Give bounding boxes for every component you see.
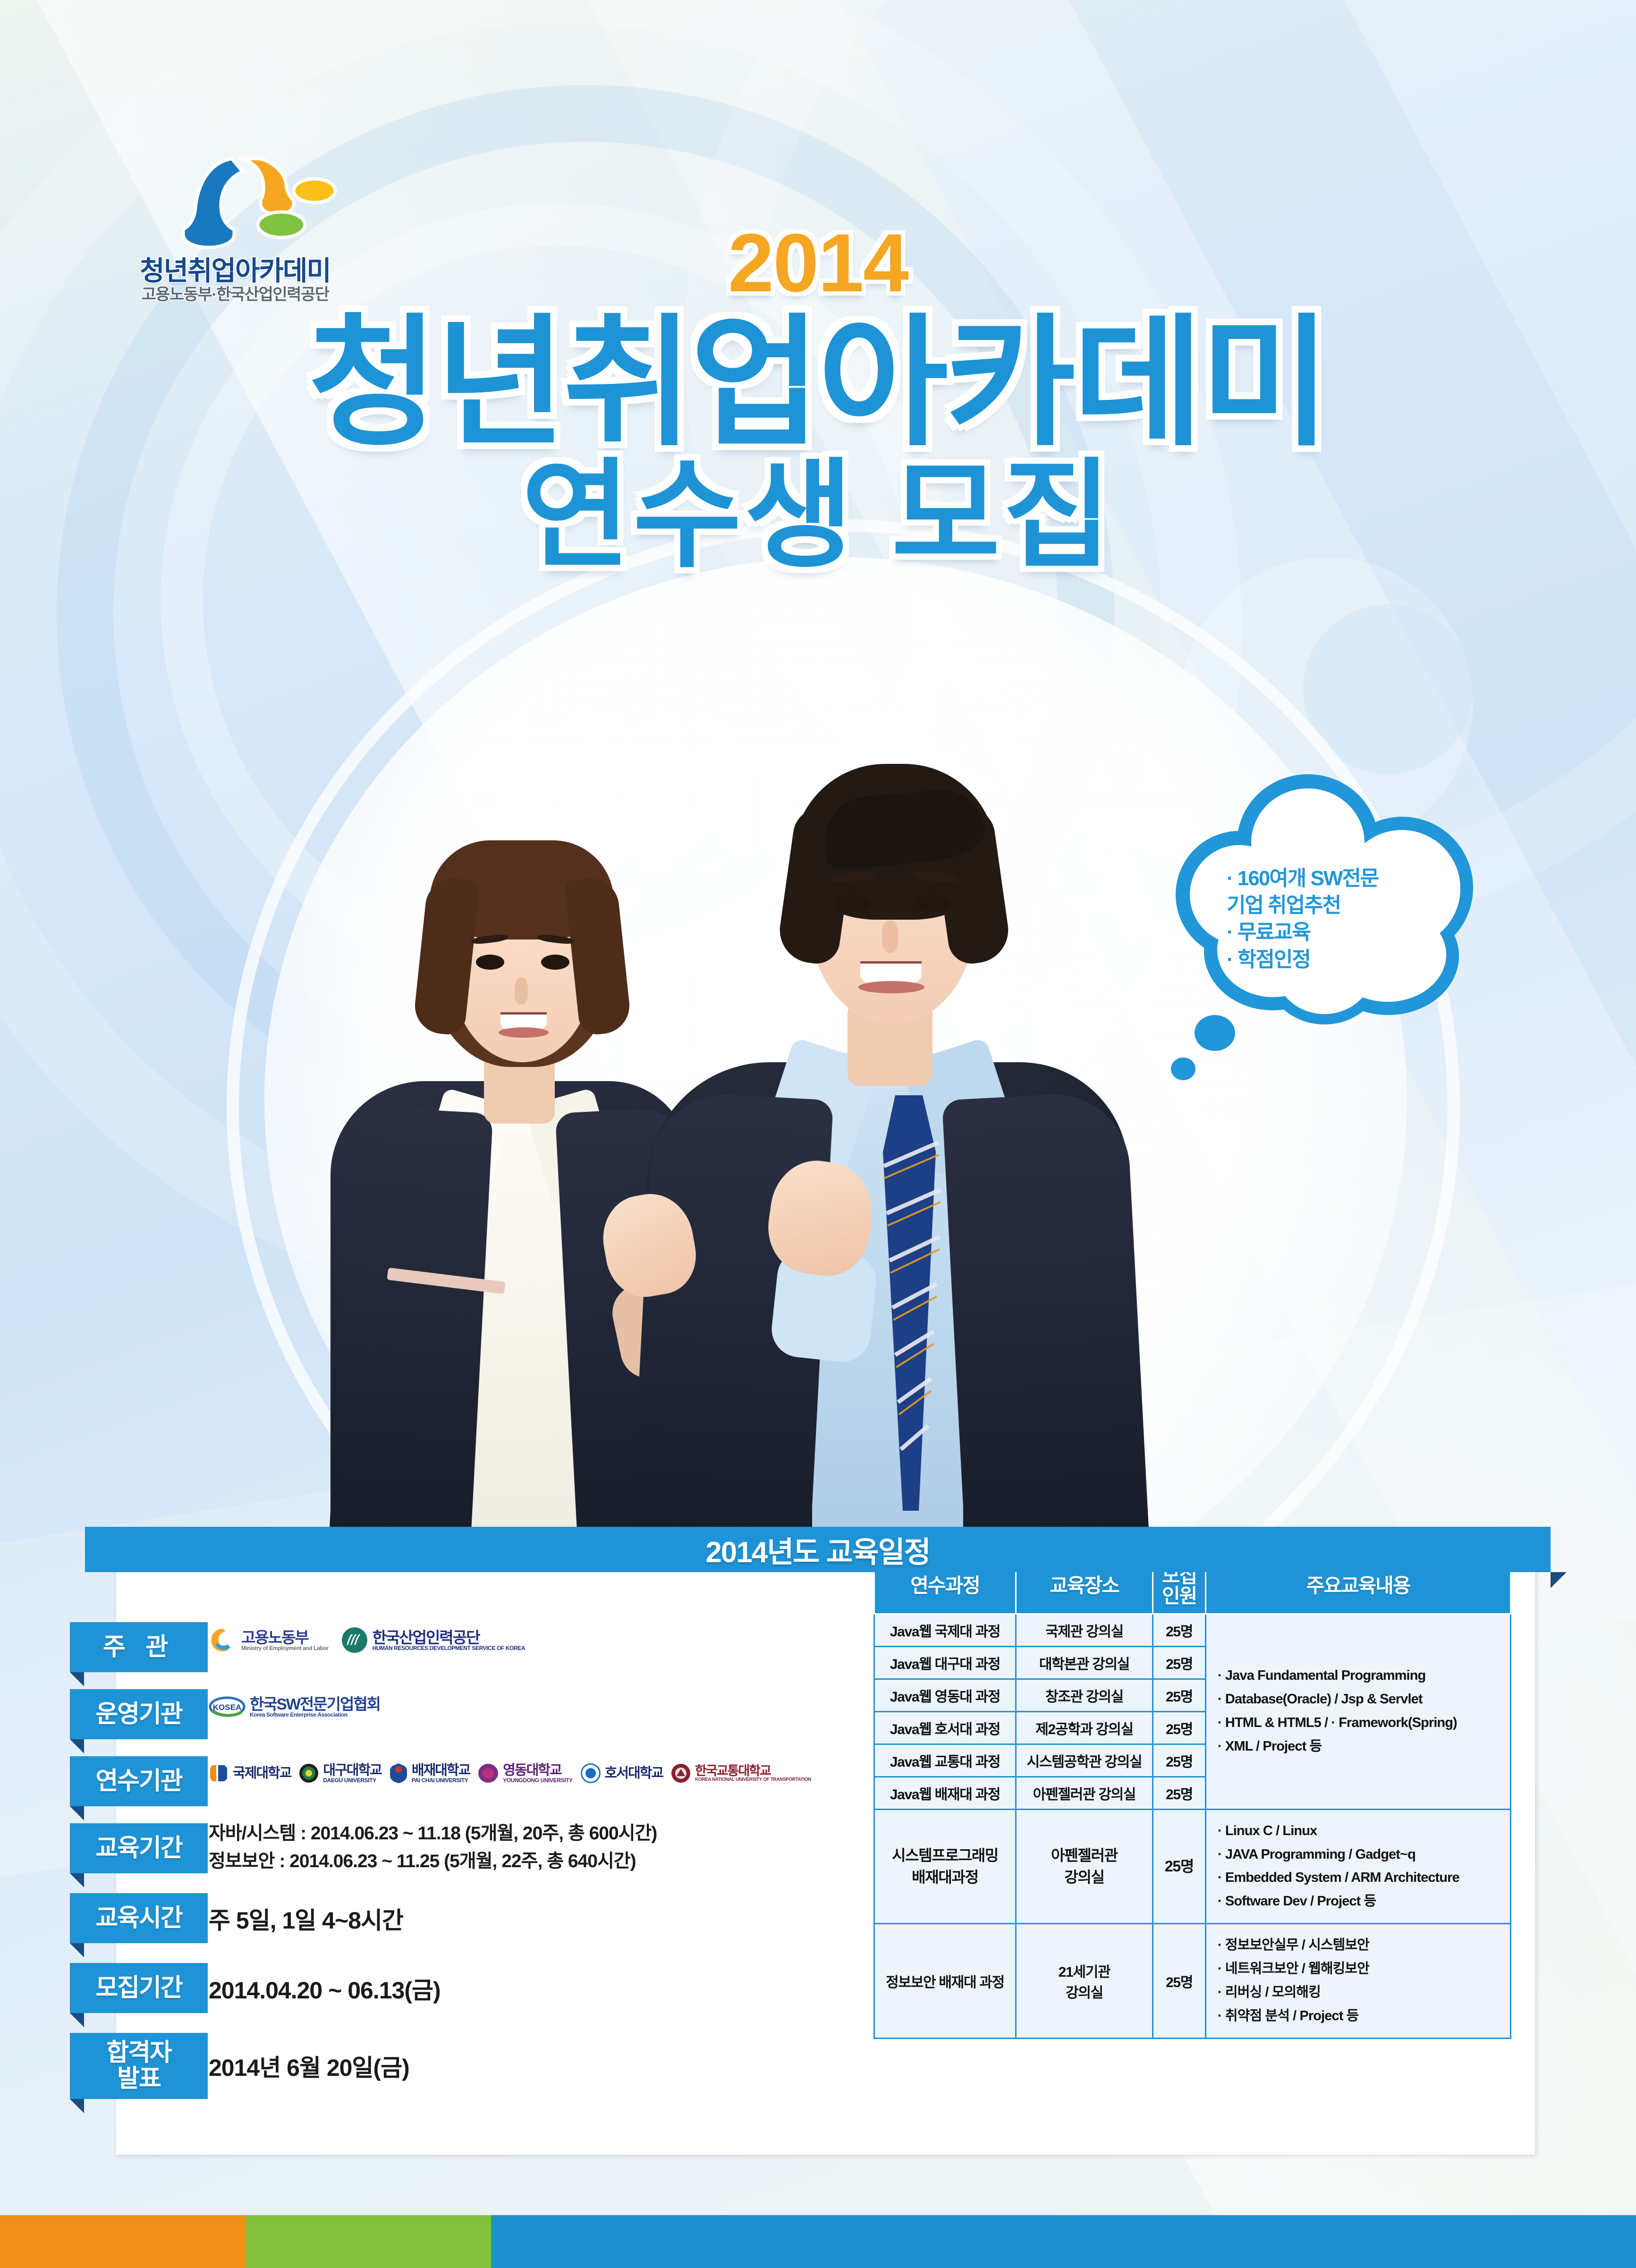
logo-univ-3: 영동대학교 YOUNGDONG UNIVERSITY	[478, 1763, 572, 1783]
poster-headline: 2014 청년취업아카데미 연수생 모집	[0, 222, 1636, 575]
cell-place: 대학본관 강의실	[1016, 1646, 1153, 1679]
bottom-bar-segment-2	[491, 2215, 1636, 2268]
info-label-training-institutions: 연수기관	[70, 1756, 208, 1806]
logo-hrdkorea: 한국산업인력공단 HUMAN RESOURCES DEVELOPMENT SER…	[341, 1626, 526, 1654]
kosea-icon: KOSEA	[209, 1693, 246, 1720]
info-label-fold	[70, 1943, 84, 1957]
svg-text:KOSEA: KOSEA	[213, 1703, 241, 1712]
logo-moel-name: 고용노동부	[241, 1630, 329, 1645]
cell-place: 제2공학과 강의실	[1016, 1711, 1153, 1744]
cell-place: 시스템공학관 강의실	[1016, 1744, 1153, 1777]
logo-univ-2-name: 배재대학교	[412, 1764, 470, 1777]
info-label-fold	[70, 1806, 84, 1820]
logo-univ-0-name: 국제대학교	[233, 1767, 291, 1780]
logo-moel-english: Ministry of Employment and Labor	[241, 1645, 329, 1651]
cell-course: Java웹 국제대 과정	[874, 1614, 1016, 1646]
logo-univ-5-english: KOREA NATIONAL UNIVERSITY OF TRANSPORTAT…	[695, 1777, 811, 1782]
training-period-line-security: 정보보안 : 2014.06.23 ~ 11.25 (5개월, 22주, 총 6…	[209, 1847, 657, 1875]
university-crest-icon	[581, 1763, 601, 1783]
thought-bubble-line-1: 기업 취업추천	[1227, 892, 1463, 919]
info-label-fold	[70, 2013, 84, 2027]
info-label-application-period: 모집기간	[70, 1963, 208, 2013]
thought-bubble-line-2: · 무료교육	[1227, 919, 1463, 946]
course-table-body: Java웹 국제대 과정국제관 강의실25명· Java Fundamental…	[874, 1614, 1511, 2038]
cell-curriculum: · 정보보안실무 / 시스템보안· 네트워크보안 / 웹해킹보안· 리버싱 / …	[1206, 1924, 1511, 2039]
thought-bubble-line-3: · 학점인정	[1227, 946, 1463, 973]
table-row: Java웹 국제대 과정국제관 강의실25명· Java Fundamental…	[874, 1614, 1511, 1646]
logo-univ-3-name: 영동대학교	[503, 1764, 572, 1777]
university-crest-icon	[299, 1763, 319, 1783]
logo-univ-1-text: 대구대학교 DAEGU UNIVERSITY	[323, 1764, 381, 1783]
cell-course: Java웹 교통대 과정	[874, 1744, 1016, 1777]
cell-course: 시스템프로그래밍배재대과정	[874, 1809, 1016, 1924]
logo-univ-0-text: 국제대학교	[233, 1767, 291, 1780]
cell-curriculum: · Java Fundamental Programming· Database…	[1206, 1614, 1511, 1809]
logo-moel-text: 고용노동부 Ministry of Employment and Labor	[241, 1630, 329, 1651]
headline-main: 청년취업아카데미	[0, 312, 1636, 454]
logo-univ-4-text: 호서대학교	[605, 1767, 663, 1780]
university-crest-icon	[671, 1763, 691, 1783]
cell-quota: 25명	[1153, 1809, 1206, 1924]
bottom-color-bar	[0, 2215, 1636, 2268]
cell-curriculum: · Linux C / Linux· JAVA Programming / Ga…	[1206, 1809, 1511, 1924]
logo-univ-5-name: 한국교통대학교	[695, 1765, 811, 1777]
cell-course: Java웹 영동대 과정	[874, 1679, 1016, 1711]
info-value-application-period: 2014.04.20 ~ 06.13(금)	[209, 1972, 441, 2006]
logo-univ-2: 배재대학교 PAI CHAI UNIVERSITY	[390, 1763, 470, 1784]
bottom-bar-segment-1	[246, 2215, 491, 2268]
university-crest-icon	[209, 1763, 229, 1783]
cell-course: 정보보안 배재대 과정	[874, 1924, 1016, 2039]
logo-kosea: KOSEA 한국SW전문기업협회 Korea Software Enterpri…	[209, 1693, 380, 1720]
logo-univ-2-text: 배재대학교 PAI CHAI UNIVERSITY	[412, 1764, 470, 1783]
thought-bubble: · 160여개 SW전문 기업 취업추천· 무료교육· 학점인정	[1176, 774, 1506, 1058]
logo-kosea-text: 한국SW전문기업협회 Korea Software Enterprise Ass…	[250, 1696, 380, 1718]
logo-kosea-english: Korea Software Enterprise Association	[250, 1712, 380, 1718]
schedule-banner-fold	[1551, 1572, 1567, 1588]
logo-univ-5-text: 한국교통대학교 KOREA NATIONAL UNIVERSITY OF TRA…	[695, 1765, 811, 1782]
thought-bubble-line-0: · 160여개 SW전문	[1227, 865, 1463, 892]
cell-course: Java웹 대구대 과정	[874, 1646, 1016, 1679]
logo-moel: 고용노동부 Ministry of Employment and Labor	[209, 1626, 329, 1654]
logo-univ-0: 국제대학교	[209, 1763, 291, 1783]
logo-univ-5: 한국교통대학교 KOREA NATIONAL UNIVERSITY OF TRA…	[671, 1763, 811, 1783]
cell-place: 국제관 강의실	[1016, 1614, 1153, 1646]
logo-univ-2-english: PAI CHAI UNIVERSITY	[412, 1777, 470, 1783]
cell-quota: 25명	[1153, 1711, 1206, 1744]
logo-hrdkorea-english: HUMAN RESOURCES DEVELOPMENT SERVICE OF K…	[373, 1645, 526, 1651]
cell-place: 아펜젤러관강의실	[1016, 1809, 1153, 1924]
info-value-training-hours: 주 5일, 1일 4~8시간	[209, 1902, 403, 1936]
necktie	[859, 1095, 958, 1520]
logo-univ-1-english: DAEGU UNIVERSITY	[323, 1777, 381, 1783]
logo-univ-3-text: 영동대학교 YOUNGDONG UNIVERSITY	[503, 1764, 572, 1783]
logo-univ-4-name: 호서대학교	[605, 1767, 663, 1780]
info-label-host: 주 관	[70, 1622, 208, 1672]
course-table: 연수과정 교육장소 모집인원 주요교육내용 Java웹 국제대 과정국제관 강의…	[873, 1558, 1511, 2039]
cell-place: 창조관 강의실	[1016, 1679, 1153, 1711]
cell-quota: 25명	[1153, 1924, 1206, 2039]
logo-univ-3-english: YOUNGDONG UNIVERSITY	[503, 1777, 572, 1783]
cell-quota: 25명	[1153, 1679, 1206, 1711]
host-logo-row: 고용노동부 Ministry of Employment and Labor 한…	[209, 1626, 525, 1654]
schedule-banner: 2014년도 교육일정	[85, 1527, 1551, 1572]
logo-univ-4: 호서대학교	[581, 1763, 663, 1783]
cell-quota: 25명	[1153, 1777, 1206, 1809]
cell-course: Java웹 배재대 과정	[874, 1777, 1016, 1809]
logo-univ-1-name: 대구대학교	[323, 1764, 381, 1777]
cell-place: 21세기관강의실	[1016, 1924, 1153, 2039]
thought-bubble-text: · 160여개 SW전문 기업 취업추천· 무료교육· 학점인정	[1227, 865, 1463, 973]
headline-year: 2014	[0, 222, 1636, 305]
schedule-panel: 주 관 고용노동부 Ministry of Employment and Lab…	[116, 1538, 1535, 2155]
info-label-fold	[70, 1672, 84, 1686]
university-crest-icon	[390, 1763, 407, 1784]
logo-hrdkorea-name: 한국산업인력공단	[373, 1630, 526, 1645]
info-value-training-period: 자바/시스템 : 2014.06.23 ~ 11.18 (5개월, 20주, 총…	[209, 1819, 657, 1876]
logo-kosea-name: 한국SW전문기업협회	[250, 1696, 380, 1712]
cell-quota: 25명	[1153, 1744, 1206, 1777]
info-label-training-hours: 교육시간	[70, 1893, 208, 1943]
logo-hrdkorea-text: 한국산업인력공단 HUMAN RESOURCES DEVELOPMENT SER…	[373, 1630, 526, 1651]
hrdkorea-icon	[341, 1626, 368, 1654]
university-crest-icon	[478, 1763, 499, 1783]
table-row: 정보보안 배재대 과정21세기관강의실25명· 정보보안실무 / 시스템보안· …	[874, 1924, 1511, 2039]
training-period-line-java: 자바/시스템 : 2014.06.23 ~ 11.18 (5개월, 20주, 총…	[209, 1819, 657, 1847]
cell-place: 아펜젤러관 강의실	[1016, 1777, 1153, 1809]
bottom-bar-segment-0	[0, 2215, 246, 2268]
cell-course: Java웹 호서대 과정	[874, 1711, 1016, 1744]
info-label-training-period: 교육기간	[70, 1823, 208, 1873]
operator-logo-row: KOSEA 한국SW전문기업협회 Korea Software Enterpri…	[209, 1693, 380, 1720]
moel-icon	[209, 1626, 237, 1654]
cell-quota: 25명	[1153, 1614, 1206, 1646]
table-row: 시스템프로그래밍배재대과정아펜젤러관강의실25명· Linux C / Linu…	[874, 1809, 1511, 1924]
university-logo-row: 국제대학교 대구대학교 DAEGU UNIVERSITY	[209, 1763, 811, 1784]
info-label-fold	[70, 1873, 84, 1887]
headline-sub: 연수생 모집	[0, 457, 1636, 575]
info-label-results-announcement: 합격자발표	[70, 2033, 208, 2099]
info-label-operator: 운영기관	[70, 1689, 208, 1739]
cell-quota: 25명	[1153, 1646, 1206, 1679]
schedule-banner-title: 2014년도 교육일정	[705, 1528, 930, 1571]
info-label-fold	[70, 2099, 84, 2113]
info-value-results-announcement: 2014년 6월 20일(금)	[209, 2049, 409, 2083]
logo-univ-1: 대구대학교 DAEGU UNIVERSITY	[299, 1763, 381, 1783]
info-label-fold	[70, 1739, 84, 1753]
info-rows: 주 관 고용노동부 Ministry of Employment and Lab…	[116, 1538, 853, 2155]
